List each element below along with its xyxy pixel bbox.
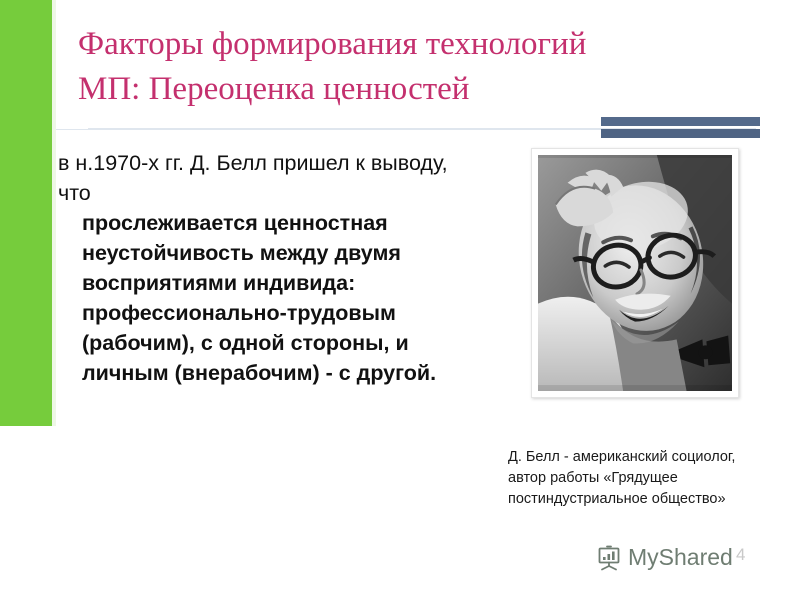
presentation-slide: Факторы формирования технологий МП: Пере… [0,0,800,600]
green-accent-bar [0,0,52,426]
slide-number: 4 [736,545,745,565]
photo-caption: Д. Белл - американский социолог, автор р… [508,447,738,510]
portrait-photo [538,155,732,391]
title-divider-gap [56,127,88,129]
slide-title: Факторы формирования технологий МП: Пере… [78,22,778,112]
accent-bar-top [601,117,760,126]
body-emphasis-text: прослеживается ценностная неустойчивость… [58,208,478,388]
portrait-photo-illustration [538,155,732,391]
myshared-watermark: MyShared [596,544,733,571]
accent-bar-bottom [601,129,760,138]
portrait-photo-frame [531,148,739,398]
presentation-chart-icon [596,545,622,571]
green-accent-bar-edge [52,0,56,426]
myshared-watermark-text: MyShared [628,544,733,571]
slide-body-text: в н.1970-х гг. Д. Белл пришел к выводу, … [58,148,478,388]
body-lead-text: в н.1970-х гг. Д. Белл пришел к выводу, … [58,148,478,208]
